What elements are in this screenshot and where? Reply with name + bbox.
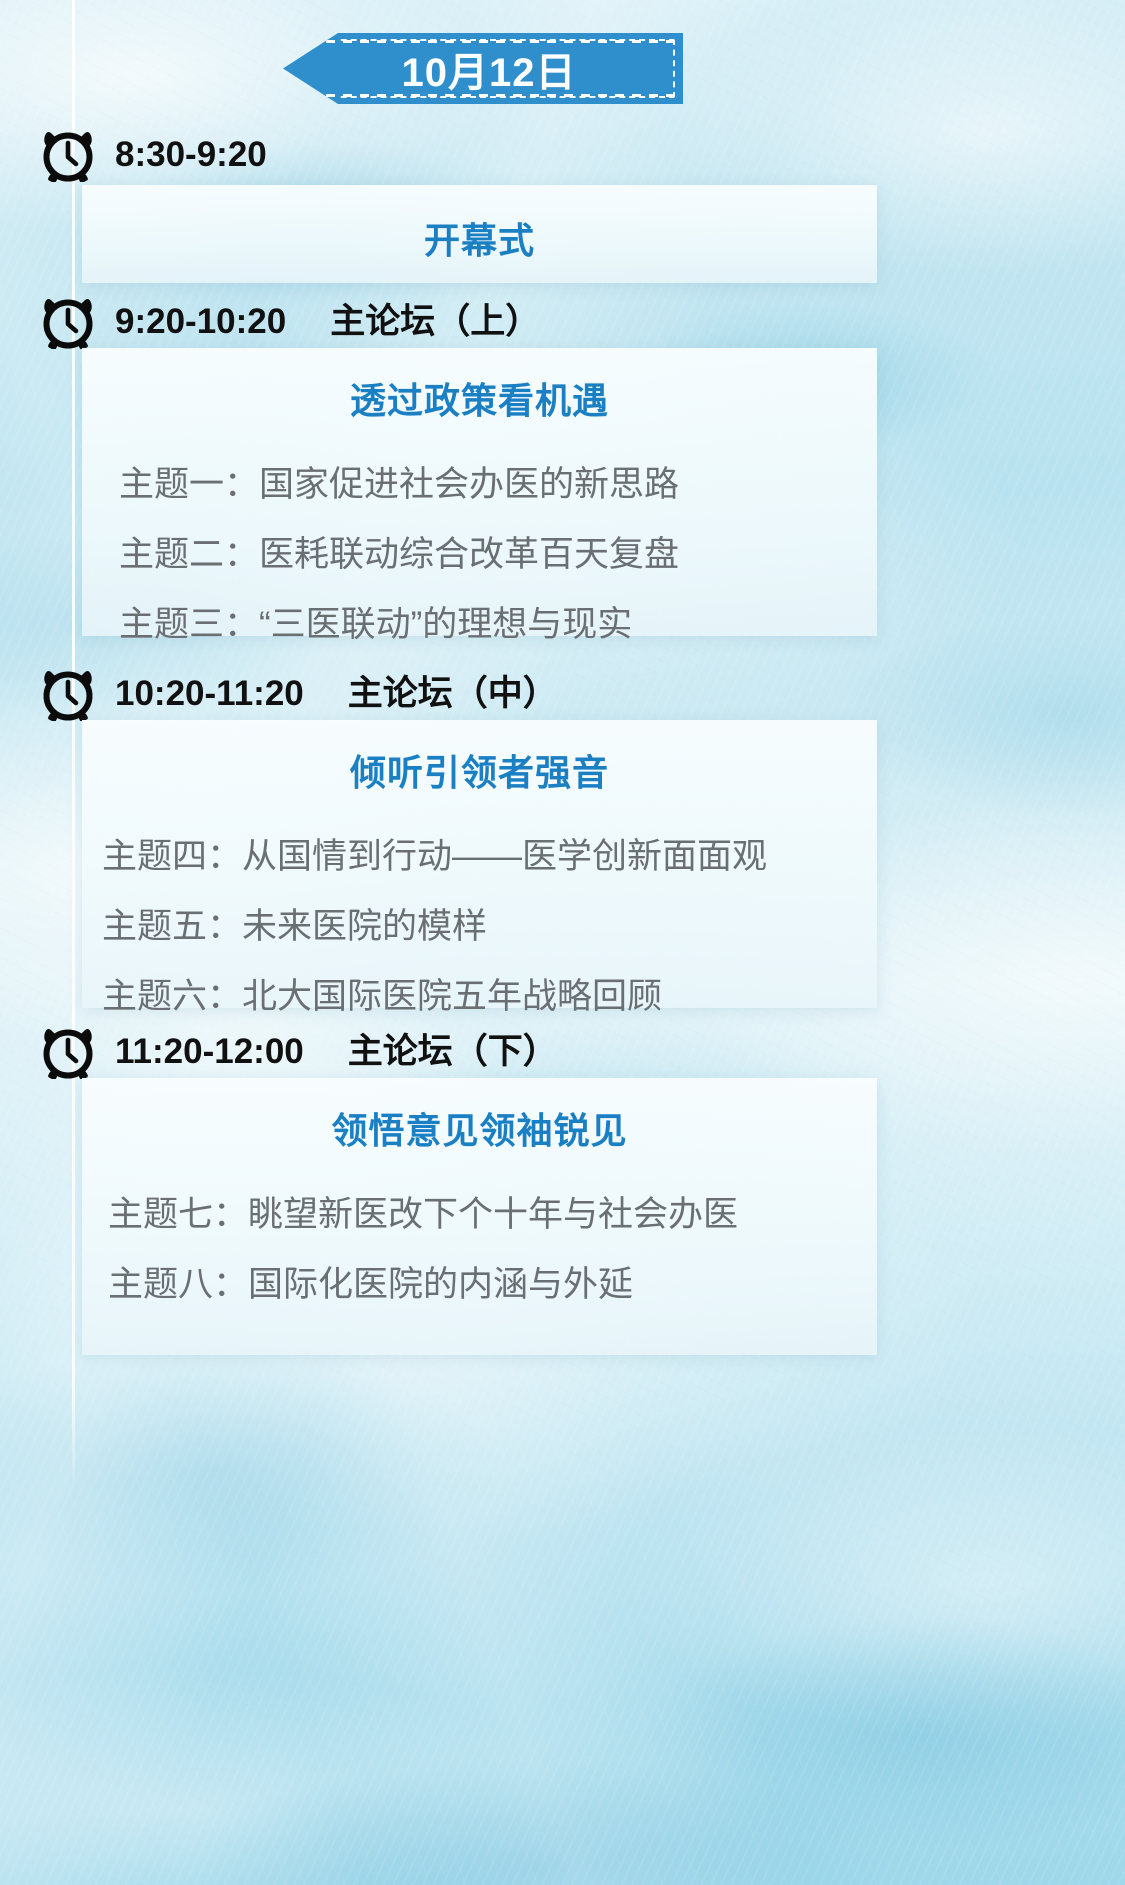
- time-row-2: 9:20-10:20 主论坛（上）: [0, 292, 1125, 350]
- forum-label: 主论坛（上）: [330, 304, 540, 339]
- schedule-poster: 10月12日 8:30-9:20 开幕式: [0, 0, 1125, 1885]
- schedule-block-2: 9:20-10:20 主论坛（上） 透过政策看机遇 主题一：国家促进社会办医的新…: [0, 292, 1125, 350]
- time-label: 9:20-10:20: [115, 304, 286, 339]
- time-row-3: 10:20-11:20 主论坛（中）: [0, 664, 1125, 722]
- alarm-clock-icon: [43, 665, 93, 721]
- topic-item: 主题二：医耗联动综合改革百天复盘: [119, 537, 877, 572]
- alarm-clock-icon: [43, 293, 93, 349]
- time-row-1: 8:30-9:20: [0, 125, 1125, 183]
- forum-label: 主论坛（中）: [348, 676, 558, 711]
- time-label: 10:20-11:20: [115, 676, 304, 711]
- time-label: 8:30-9:20: [115, 137, 267, 172]
- date-label: 10月12日: [390, 40, 577, 98]
- session-card-3: 倾听引领者强音 主题四：从国情到行动——医学创新面面观 主题五：未来医院的模样 …: [82, 720, 877, 1008]
- topic-item: 主题四：从国情到行动——医学创新面面观: [102, 839, 877, 874]
- alarm-clock-icon: [43, 126, 93, 182]
- schedule-block-1: 8:30-9:20 开幕式: [0, 125, 1125, 183]
- session-card-2: 透过政策看机遇 主题一：国家促进社会办医的新思路 主题二：医耗联动综合改革百天复…: [82, 348, 877, 636]
- date-banner: 10月12日: [283, 33, 683, 104]
- session-card-title: 倾听引领者强音: [82, 720, 877, 791]
- time-row-4: 11:20-12:00 主论坛（下）: [0, 1022, 1125, 1080]
- forum-label: 主论坛（下）: [348, 1034, 558, 1069]
- session-card-title: 透过政策看机遇: [82, 348, 877, 419]
- session-card-4: 领悟意见领袖锐见 主题七：眺望新医改下个十年与社会办医 主题八：国际化医院的内涵…: [82, 1078, 877, 1355]
- schedule-block-3: 10:20-11:20 主论坛（中） 倾听引领者强音 主题四：从国情到行动——医…: [0, 664, 1125, 722]
- topic-item: 主题八：国际化医院的内涵与外延: [108, 1267, 877, 1302]
- topic-item: 主题五：未来医院的模样: [102, 909, 877, 944]
- session-card-title: 开幕式: [82, 185, 877, 259]
- session-card-1: 开幕式: [82, 185, 877, 283]
- schedule-block-4: 11:20-12:00 主论坛（下） 领悟意见领袖锐见 主题七：眺望新医改下个十…: [0, 1022, 1125, 1080]
- topic-item: 主题七：眺望新医改下个十年与社会办医: [108, 1197, 877, 1232]
- topic-item: 主题六：北大国际医院五年战略回顾: [102, 979, 877, 1014]
- topic-item: 主题三：“三医联动”的理想与现实: [119, 607, 877, 642]
- topic-item: 主题一：国家促进社会办医的新思路: [119, 467, 877, 502]
- session-card-title: 领悟意见领袖锐见: [82, 1078, 877, 1149]
- time-label: 11:20-12:00: [115, 1034, 304, 1069]
- alarm-clock-icon: [43, 1023, 93, 1079]
